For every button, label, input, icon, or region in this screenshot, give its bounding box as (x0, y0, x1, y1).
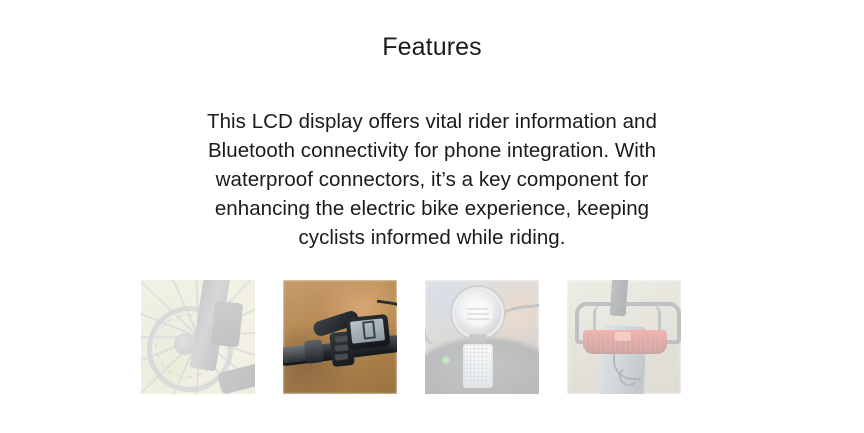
headlight-image (425, 280, 539, 394)
section-description: This LCD display offers vital rider info… (182, 107, 682, 252)
page-title: Features (0, 31, 864, 63)
brake-caliper-graphic (211, 301, 243, 348)
indicator-light-graphic (442, 356, 450, 364)
gallery-thumbnail-disc-brake[interactable] (141, 280, 255, 394)
disc-brake-image (141, 280, 255, 394)
gallery-thumbnail-taillight[interactable] (567, 280, 681, 394)
handlebar-lcd-image (283, 280, 397, 394)
feature-thumbnail-strip (141, 280, 695, 394)
gallery-thumbnail-headlight[interactable] (425, 280, 539, 394)
features-section: Features This LCD display offers vital r… (0, 0, 864, 433)
taillight-image (567, 280, 681, 394)
gallery-thumbnail-handlebar-lcd[interactable] (283, 280, 397, 394)
